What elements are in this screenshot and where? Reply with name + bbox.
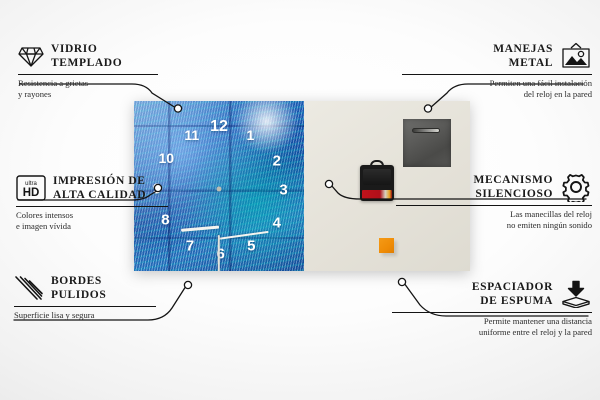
clock-center-cap xyxy=(217,187,222,192)
infographic-canvas: 12 1 2 3 4 5 6 7 8 9 10 11 xyxy=(0,0,600,400)
metal-hanger-plate xyxy=(403,119,451,167)
callout-description: Resistencia a grietas y rayones xyxy=(18,78,158,101)
callout-title: ESPACIADORDE ESPUMA xyxy=(472,280,553,309)
callout-rule xyxy=(392,312,592,313)
callout-title: VIDRIOTEMPLADO xyxy=(51,42,122,71)
callout-vidrio-templado[interactable]: VIDRIOTEMPLADO Resistencia a grietas y r… xyxy=(18,42,158,100)
callout-description: Permite mantener una distancia uniforme … xyxy=(392,316,592,339)
diamond-icon xyxy=(18,44,44,68)
callout-title: IMPRESIÓN DEALTA CALIDAD xyxy=(53,174,146,203)
clock-numeral: 2 xyxy=(273,153,281,168)
hanger-slot xyxy=(412,128,440,133)
callout-title: MANEJASMETAL xyxy=(493,42,553,71)
callout-impresion-alta-calidad[interactable]: ultra HD IMPRESIÓN DEALTA CALIDAD Colore… xyxy=(16,174,168,232)
callout-description: Las manecillas del reloj no emiten ningú… xyxy=(396,209,592,232)
callout-espaciador-espuma[interactable]: ESPACIADORDE ESPUMA Permite mantener una… xyxy=(392,280,592,338)
callout-bordes-pulidos[interactable]: BORDESPULIDOS Superficie lisa y segura xyxy=(14,274,156,321)
clock-numeral: 12 xyxy=(210,119,228,135)
callout-description: Colores intensos e imagen vívida xyxy=(16,210,168,233)
polished-edge-lines-icon xyxy=(14,275,44,301)
clock-numeral: 5 xyxy=(247,238,255,253)
connector-endpoint-bordes xyxy=(184,281,191,288)
callout-description: Superficie lisa y segura xyxy=(14,310,156,321)
ultra-hd-large-text: HD xyxy=(23,187,40,199)
mechanism-body-detail xyxy=(363,169,391,185)
foam-spacer-arrow-icon xyxy=(560,280,592,308)
callout-manejas-metal[interactable]: MANEJASMETAL Permiten una fácil instalac… xyxy=(402,42,592,100)
callout-rule xyxy=(396,205,592,206)
clock-numeral: 4 xyxy=(273,216,281,231)
clock-numeral: 11 xyxy=(184,128,199,142)
clock-second-hand xyxy=(218,235,220,271)
picture-hanger-icon xyxy=(560,42,592,70)
clock-numeral: 3 xyxy=(279,183,287,198)
clock-numeral: 10 xyxy=(159,151,175,165)
gear-icon xyxy=(560,172,592,202)
callout-rule xyxy=(14,306,156,307)
clock-mechanism-box xyxy=(360,165,394,201)
callout-rule xyxy=(18,74,158,75)
callout-title: MECANISMOSILENCIOSO xyxy=(473,173,553,202)
callout-description: Permiten una fácil instalación del reloj… xyxy=(402,78,592,101)
mechanism-label xyxy=(362,190,392,199)
callout-rule xyxy=(402,74,592,75)
mechanism-hanging-loop xyxy=(370,160,384,168)
clock-numeral: 1 xyxy=(247,128,255,142)
clock-numeral: 7 xyxy=(186,238,194,253)
callout-rule xyxy=(16,206,168,207)
callout-title: BORDESPULIDOS xyxy=(51,274,106,303)
ultra-hd-badge-icon: ultra HD xyxy=(16,175,46,201)
callout-mecanismo-silencioso[interactable]: MECANISMOSILENCIOSO Las manecillas del r… xyxy=(396,172,592,232)
foam-spacer-square xyxy=(379,238,394,253)
